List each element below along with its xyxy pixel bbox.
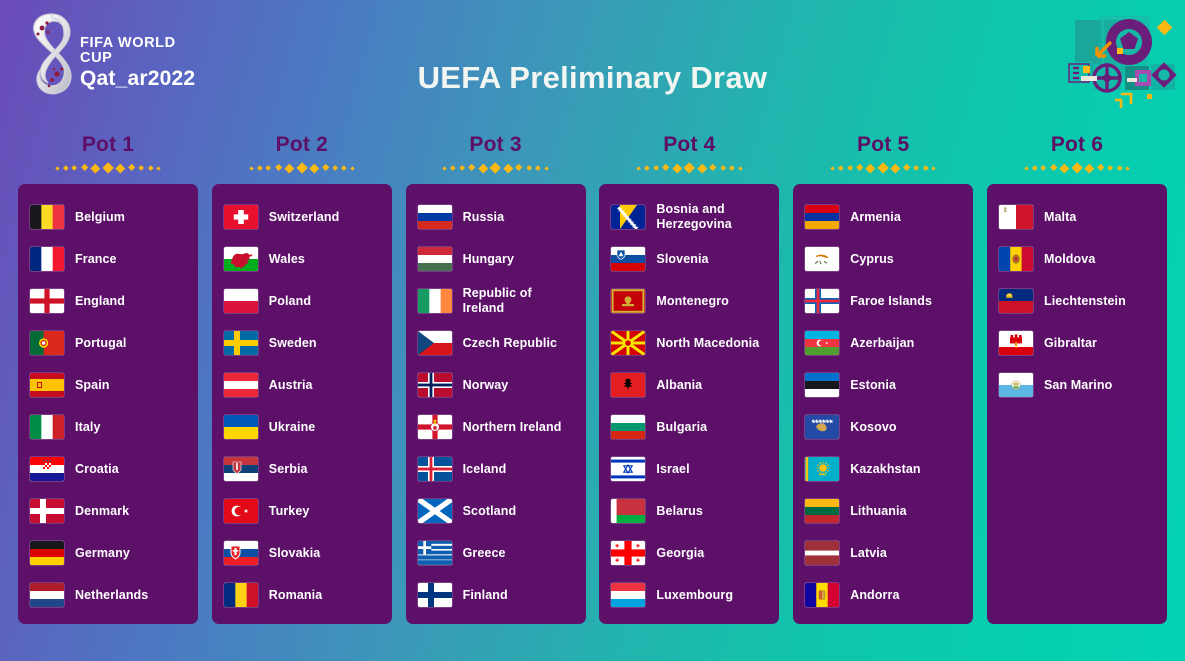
diamond-icon	[157, 166, 161, 170]
diamond-icon	[350, 166, 354, 170]
diamond-icon	[515, 164, 523, 172]
diamond-icon	[877, 162, 889, 174]
team-row[interactable]: Poland	[212, 280, 392, 322]
team-row[interactable]: Norway	[406, 364, 586, 406]
flag-sweden-icon	[224, 331, 258, 355]
team-name: Czech Republic	[463, 336, 557, 351]
diamond-icon	[296, 162, 308, 174]
team-row[interactable]: Croatia	[18, 448, 198, 490]
pot-header-5: Pot 5	[793, 133, 973, 174]
diamond-icon	[478, 163, 487, 172]
flag-wales-icon	[224, 247, 258, 271]
flag-germany-icon	[30, 541, 64, 565]
flag-kosovo-icon	[805, 415, 839, 439]
flag-ukraine-icon	[224, 415, 258, 439]
pot-panel-6: MaltaMoldovaLiechtensteinGibraltarSan Ma…	[987, 184, 1167, 624]
flag-moldova-icon	[999, 247, 1033, 271]
team-name: Latvia	[850, 546, 887, 561]
flag-cyprus-icon	[805, 247, 839, 271]
flag-montenegro-icon	[611, 289, 645, 313]
flag-san-marino-icon	[999, 373, 1033, 397]
team-row[interactable]: Gibraltar	[987, 322, 1167, 364]
diamond-icon	[116, 163, 125, 172]
flag-belarus-icon	[611, 499, 645, 523]
team-row[interactable]: Estonia	[793, 364, 973, 406]
team-row[interactable]: Iceland	[406, 448, 586, 490]
team-name: Wales	[269, 252, 305, 267]
diamond-icon	[1032, 166, 1037, 171]
diamond-icon	[544, 166, 548, 170]
diamond-icon	[1071, 162, 1083, 174]
pot-title: Pot 3	[406, 133, 586, 156]
flag-gibraltar-icon	[999, 331, 1033, 355]
team-row[interactable]: Moldova	[987, 238, 1167, 280]
diamond-icon	[838, 166, 843, 171]
team-name: Belgium	[75, 210, 125, 225]
team-name: Northern Ireland	[463, 420, 562, 435]
team-row[interactable]: Finland	[406, 574, 586, 616]
diamond-icon	[738, 166, 742, 170]
team-name: Albania	[656, 378, 702, 393]
team-row[interactable]: Italy	[18, 406, 198, 448]
flag-finland-icon	[418, 583, 452, 607]
pot-panel-5: ArmeniaCyprusFaroe IslandsAzerbaijanEsto…	[793, 184, 973, 624]
team-row[interactable]: Bosnia and Herzegovina	[599, 196, 779, 238]
team-row[interactable]: Luxembourg	[599, 574, 779, 616]
team-name: Iceland	[463, 462, 507, 477]
pot-column-2: Pot 2SwitzerlandWalesPolandSwedenAustria…	[212, 133, 392, 624]
team-row[interactable]: Lithuania	[793, 490, 973, 532]
qatar-2022-abstract-football-graphic-icon	[1059, 4, 1179, 116]
diamond-icon	[265, 165, 271, 171]
diamond-icon	[274, 164, 282, 172]
pot-panel-3: RussiaHungaryRepublic of IrelandCzech Re…	[406, 184, 586, 624]
team-name: Scotland	[463, 504, 517, 519]
team-name: Portugal	[75, 336, 127, 351]
flag-albania-icon	[611, 373, 645, 397]
team-row[interactable]: Azerbaijan	[793, 322, 973, 364]
team-row[interactable]: Kosovo	[793, 406, 973, 448]
team-row[interactable]: Latvia	[793, 532, 973, 574]
diamond-icon	[332, 165, 338, 171]
team-name: Greece	[463, 546, 506, 561]
pot-column-4: Pot 4Bosnia and HerzegovinaSloveniaMonte…	[599, 133, 779, 624]
diamond-icon	[847, 165, 853, 171]
pot-header-4: Pot 4	[599, 133, 779, 174]
diamond-icon	[1050, 164, 1058, 172]
diamond-icon	[321, 164, 329, 172]
diamond-icon	[503, 163, 512, 172]
diamond-icon	[63, 166, 68, 171]
team-name: Finland	[463, 588, 508, 603]
diamond-icon	[644, 166, 649, 171]
flag-north-macedonia-icon	[611, 331, 645, 355]
flag-slovenia-icon	[611, 247, 645, 271]
team-name: Ukraine	[269, 420, 316, 435]
team-row[interactable]: Scotland	[406, 490, 586, 532]
pot-header-2: Pot 2	[212, 133, 392, 174]
team-row[interactable]: Belgium	[18, 196, 198, 238]
diamond-icon	[709, 164, 717, 172]
diamond-icon	[468, 164, 476, 172]
team-name: England	[75, 294, 125, 309]
team-row[interactable]: Sweden	[212, 322, 392, 364]
diamond-icon	[285, 163, 294, 172]
flag-israel-icon	[611, 457, 645, 481]
diamond-icon	[55, 166, 59, 170]
diamond-icon	[138, 165, 144, 171]
flag-lithuania-icon	[805, 499, 839, 523]
team-name: Turkey	[269, 504, 310, 519]
pot-panel-4: Bosnia and HerzegovinaSloveniaMontenegro…	[599, 184, 779, 624]
team-name: Belarus	[656, 504, 703, 519]
flag-poland-icon	[224, 289, 258, 313]
team-row[interactable]: Faroe Islands	[793, 280, 973, 322]
flag-georgia-icon	[611, 541, 645, 565]
team-row[interactable]: Bulgaria	[599, 406, 779, 448]
flag-ireland-icon	[418, 289, 452, 313]
diamond-icon	[72, 165, 78, 171]
diamond-icon	[148, 166, 153, 171]
flag-hungary-icon	[418, 247, 452, 271]
flag-russia-icon	[418, 205, 452, 229]
flag-bulgaria-icon	[611, 415, 645, 439]
diamond-icon	[683, 162, 695, 174]
team-name: Hungary	[463, 252, 514, 267]
diamond-icon	[91, 163, 100, 172]
team-name: Faroe Islands	[850, 294, 932, 309]
diamond-icon	[637, 166, 641, 170]
team-name: Gibraltar	[1044, 336, 1097, 351]
diamond-icon	[653, 165, 659, 171]
flag-latvia-icon	[805, 541, 839, 565]
team-row[interactable]: Portugal	[18, 322, 198, 364]
diamond-icon	[443, 166, 447, 170]
team-row[interactable]: Andorra	[793, 574, 973, 616]
diamond-icon	[526, 165, 532, 171]
diamond-icon	[672, 163, 681, 172]
diamond-icon	[1040, 165, 1046, 171]
team-row[interactable]: Austria	[212, 364, 392, 406]
flag-slovakia-icon	[224, 541, 258, 565]
pot-header-6: Pot 6	[987, 133, 1167, 174]
diamond-icon	[913, 165, 919, 171]
flag-czech-republic-icon	[418, 331, 452, 355]
flag-france-icon	[30, 247, 64, 271]
team-row[interactable]: Ukraine	[212, 406, 392, 448]
team-name: Armenia	[850, 210, 901, 225]
diamond-icon	[697, 163, 706, 172]
team-name: Poland	[269, 294, 311, 309]
pot-title: Pot 5	[793, 133, 973, 156]
flag-spain-icon	[30, 373, 64, 397]
flag-belgium-icon	[30, 205, 64, 229]
pot-panel-1: BelgiumFranceEnglandPortugalSpainItalyCr…	[18, 184, 198, 624]
team-row[interactable]: Slovenia	[599, 238, 779, 280]
team-row[interactable]: Czech Republic	[406, 322, 586, 364]
team-row[interactable]: Germany	[18, 532, 198, 574]
team-name: Lithuania	[850, 504, 906, 519]
team-name: Denmark	[75, 504, 129, 519]
flag-portugal-icon	[30, 331, 64, 355]
pot-panel-2: SwitzerlandWalesPolandSwedenAustriaUkrai…	[212, 184, 392, 624]
team-row[interactable]: Cyprus	[793, 238, 973, 280]
flag-romania-icon	[224, 583, 258, 607]
flag-austria-icon	[224, 373, 258, 397]
team-row[interactable]: Netherlands	[18, 574, 198, 616]
flag-andorra-icon	[805, 583, 839, 607]
team-row[interactable]: Wales	[212, 238, 392, 280]
team-row[interactable]: Israel	[599, 448, 779, 490]
pot-column-6: Pot 6MaltaMoldovaLiechtensteinGibraltarS…	[987, 133, 1167, 624]
diamond-icon	[249, 166, 253, 170]
team-name: Croatia	[75, 462, 119, 477]
pot-header-3: Pot 3	[406, 133, 586, 174]
diamond-icon	[1097, 164, 1105, 172]
pots-container: Pot 1BelgiumFranceEnglandPortugalSpainIt…	[0, 133, 1185, 624]
team-row[interactable]: Malta	[987, 196, 1167, 238]
diamond-icon	[720, 165, 726, 171]
pot-diamond-divider	[987, 162, 1167, 174]
team-row[interactable]: Turkey	[212, 490, 392, 532]
pot-diamond-divider	[599, 162, 779, 174]
diamond-icon	[729, 166, 734, 171]
team-name: Kosovo	[850, 420, 896, 435]
team-row[interactable]: Albania	[599, 364, 779, 406]
pot-diamond-divider	[793, 162, 973, 174]
team-name: Moldova	[1044, 252, 1095, 267]
diamond-icon	[310, 163, 319, 172]
team-name: Italy	[75, 420, 101, 435]
team-name: Russia	[463, 210, 505, 225]
flag-azerbaijan-icon	[805, 331, 839, 355]
team-row[interactable]: Montenegro	[599, 280, 779, 322]
team-row[interactable]: Switzerland	[212, 196, 392, 238]
flag-turkey-icon	[224, 499, 258, 523]
team-row[interactable]: Kazakhstan	[793, 448, 973, 490]
flag-norway-icon	[418, 373, 452, 397]
team-name: Malta	[1044, 210, 1076, 225]
team-name: Serbia	[269, 462, 308, 477]
team-name: Georgia	[656, 546, 704, 561]
team-name: Bosnia and Herzegovina	[656, 202, 769, 232]
pot-header-1: Pot 1	[18, 133, 198, 174]
team-name: Israel	[656, 462, 689, 477]
flag-northern-ireland-icon	[418, 415, 452, 439]
pot-title: Pot 1	[18, 133, 198, 156]
diamond-icon	[662, 164, 670, 172]
diamond-icon	[903, 164, 911, 172]
diamond-icon	[535, 166, 540, 171]
team-name: Norway	[463, 378, 509, 393]
diamond-icon	[1024, 166, 1028, 170]
team-row[interactable]: Belarus	[599, 490, 779, 532]
team-name: Switzerland	[269, 210, 340, 225]
team-name: Montenegro	[656, 294, 729, 309]
pot-diamond-divider	[212, 162, 392, 174]
pot-column-5: Pot 5ArmeniaCyprusFaroe IslandsAzerbaija…	[793, 133, 973, 624]
team-name: Netherlands	[75, 588, 148, 603]
diamond-icon	[1117, 166, 1122, 171]
diamond-icon	[81, 164, 89, 172]
pot-column-3: Pot 3RussiaHungaryRepublic of IrelandCze…	[406, 133, 586, 624]
team-name: Azerbaijan	[850, 336, 914, 351]
pot-title: Pot 6	[987, 133, 1167, 156]
team-row[interactable]: Denmark	[18, 490, 198, 532]
pot-column-1: Pot 1BelgiumFranceEnglandPortugalSpainIt…	[18, 133, 198, 624]
flag-croatia-icon	[30, 457, 64, 481]
team-row[interactable]: France	[18, 238, 198, 280]
flag-england-icon	[30, 289, 64, 313]
flag-denmark-icon	[30, 499, 64, 523]
diamond-icon	[891, 163, 900, 172]
flag-scotland-icon	[418, 499, 452, 523]
diamond-icon	[1107, 165, 1113, 171]
team-row[interactable]: Spain	[18, 364, 198, 406]
team-row[interactable]: Armenia	[793, 196, 973, 238]
flag-faroe-islands-icon	[805, 289, 839, 313]
diamond-icon	[451, 166, 456, 171]
team-name: Cyprus	[850, 252, 894, 267]
team-name: Slovakia	[269, 546, 321, 561]
team-name: Spain	[75, 378, 110, 393]
diamond-icon	[490, 162, 502, 174]
team-name: Kazakhstan	[850, 462, 920, 477]
diamond-icon	[866, 163, 875, 172]
flag-serbia-icon	[224, 457, 258, 481]
diamond-icon	[257, 166, 262, 171]
team-name: Estonia	[850, 378, 896, 393]
diamond-icon	[932, 166, 936, 170]
team-row[interactable]: North Macedonia	[599, 322, 779, 364]
flag-switzerland-icon	[224, 205, 258, 229]
team-row[interactable]: Republic of Ireland	[406, 280, 586, 322]
team-name: San Marino	[1044, 378, 1112, 393]
team-name: Austria	[269, 378, 313, 393]
team-row[interactable]: Hungary	[406, 238, 586, 280]
flag-iceland-icon	[418, 457, 452, 481]
header: FIFA WORLD CUP Qat_ar2022 UEFA Prelimina…	[0, 0, 1185, 125]
team-row[interactable]: England	[18, 280, 198, 322]
flag-estonia-icon	[805, 373, 839, 397]
team-name: Andorra	[850, 588, 899, 603]
team-row[interactable]: Slovakia	[212, 532, 392, 574]
diamond-icon	[128, 164, 136, 172]
flag-bosnia-and-herzegovina-icon	[611, 205, 645, 229]
pot-diamond-divider	[18, 162, 198, 174]
pot-diamond-divider	[406, 162, 586, 174]
team-row[interactable]: Liechtenstein	[987, 280, 1167, 322]
diamond-icon	[830, 166, 834, 170]
team-name: France	[75, 252, 117, 267]
pot-title: Pot 2	[212, 133, 392, 156]
team-name: Romania	[269, 588, 323, 603]
flag-malta-icon	[999, 205, 1033, 229]
team-name: Bulgaria	[656, 420, 707, 435]
diamond-icon	[1060, 163, 1069, 172]
team-row[interactable]: Georgia	[599, 532, 779, 574]
flag-kazakhstan-icon	[805, 457, 839, 481]
team-name: Germany	[75, 546, 130, 561]
diamond-icon	[1085, 163, 1094, 172]
team-name: Sweden	[269, 336, 317, 351]
pot-title: Pot 4	[599, 133, 779, 156]
team-row[interactable]: Greece	[406, 532, 586, 574]
flag-netherlands-icon	[30, 583, 64, 607]
team-name: Liechtenstein	[1044, 294, 1126, 309]
team-row[interactable]: San Marino	[987, 364, 1167, 406]
flag-liechtenstein-icon	[999, 289, 1033, 313]
diamond-icon	[102, 162, 114, 174]
diamond-icon	[856, 164, 864, 172]
diamond-icon	[1126, 166, 1130, 170]
team-name: Republic of Ireland	[463, 286, 576, 316]
diamond-icon	[923, 166, 928, 171]
flag-luxembourg-icon	[611, 583, 645, 607]
flag-italy-icon	[30, 415, 64, 439]
flag-greece-icon	[418, 541, 452, 565]
flag-armenia-icon	[805, 205, 839, 229]
uefa-preliminary-draw-graphic: FIFA WORLD CUP Qat_ar2022 UEFA Prelimina…	[0, 0, 1185, 661]
team-row[interactable]: Russia	[406, 196, 586, 238]
team-row[interactable]: Northern Ireland	[406, 406, 586, 448]
team-row[interactable]: Romania	[212, 574, 392, 616]
team-name: Luxembourg	[656, 588, 733, 603]
page-title: UEFA Preliminary Draw	[0, 60, 1185, 96]
diamond-icon	[459, 165, 465, 171]
team-name: Slovenia	[656, 252, 708, 267]
team-name: North Macedonia	[656, 336, 759, 351]
diamond-icon	[342, 166, 347, 171]
team-row[interactable]: Serbia	[212, 448, 392, 490]
